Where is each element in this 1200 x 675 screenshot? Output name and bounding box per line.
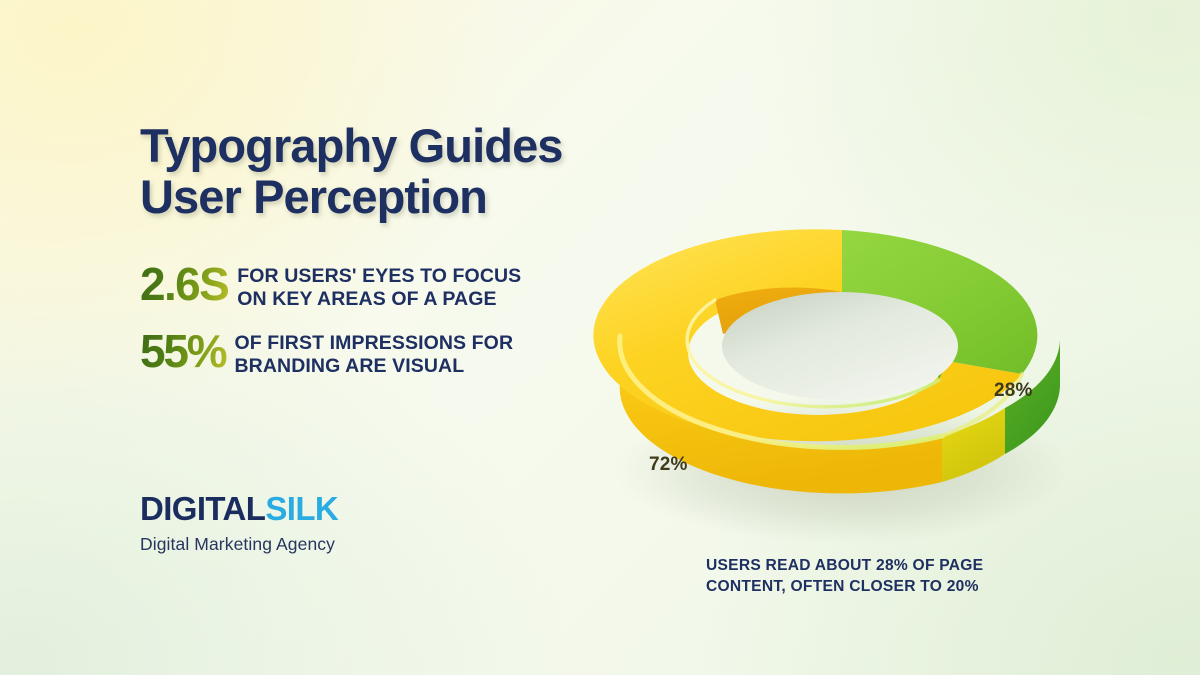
slice-label-green: 28% <box>994 380 1033 402</box>
brand-logo: DIGITALSILK Digital Marketing Agency <box>140 492 338 555</box>
stat-description: FOR USERS' EYES TO FOCUS ON KEY AREAS OF… <box>237 262 521 310</box>
logo-tagline: Digital Marketing Agency <box>140 534 338 555</box>
stat-description-line-2: BRANDING ARE VISUAL <box>234 355 513 378</box>
infographic-canvas: Typography Guides User Perception 2.6S F… <box>0 0 1200 675</box>
logo-wordmark: DIGITALSILK <box>140 492 338 525</box>
logo-word-silk: SILK <box>265 492 338 525</box>
caption-line-2: CONTENT, OFTEN CLOSER TO 20% <box>706 577 1036 598</box>
chart-caption: USERS READ ABOUT 28% OF PAGE CONTENT, OF… <box>706 556 1036 597</box>
logo-word-digital: DIGITAL <box>140 492 265 525</box>
stat-description: OF FIRST IMPRESSIONS FOR BRANDING ARE VI… <box>234 329 513 377</box>
stat-description-line-2: ON KEY AREAS OF A PAGE <box>237 288 521 311</box>
caption-line-1: USERS READ ABOUT 28% OF PAGE <box>706 556 1036 577</box>
stat-value: 55% <box>140 329 234 374</box>
stat-value: 2.6S <box>140 262 237 307</box>
donut-chart-svg <box>590 118 1090 548</box>
donut-chart: 28% 72% <box>590 118 1090 548</box>
stat-description-line-1: FOR USERS' EYES TO FOCUS <box>237 265 521 288</box>
hole-floor <box>722 292 958 400</box>
slice-label-yellow: 72% <box>649 454 688 476</box>
stat-description-line-1: OF FIRST IMPRESSIONS FOR <box>234 332 513 355</box>
